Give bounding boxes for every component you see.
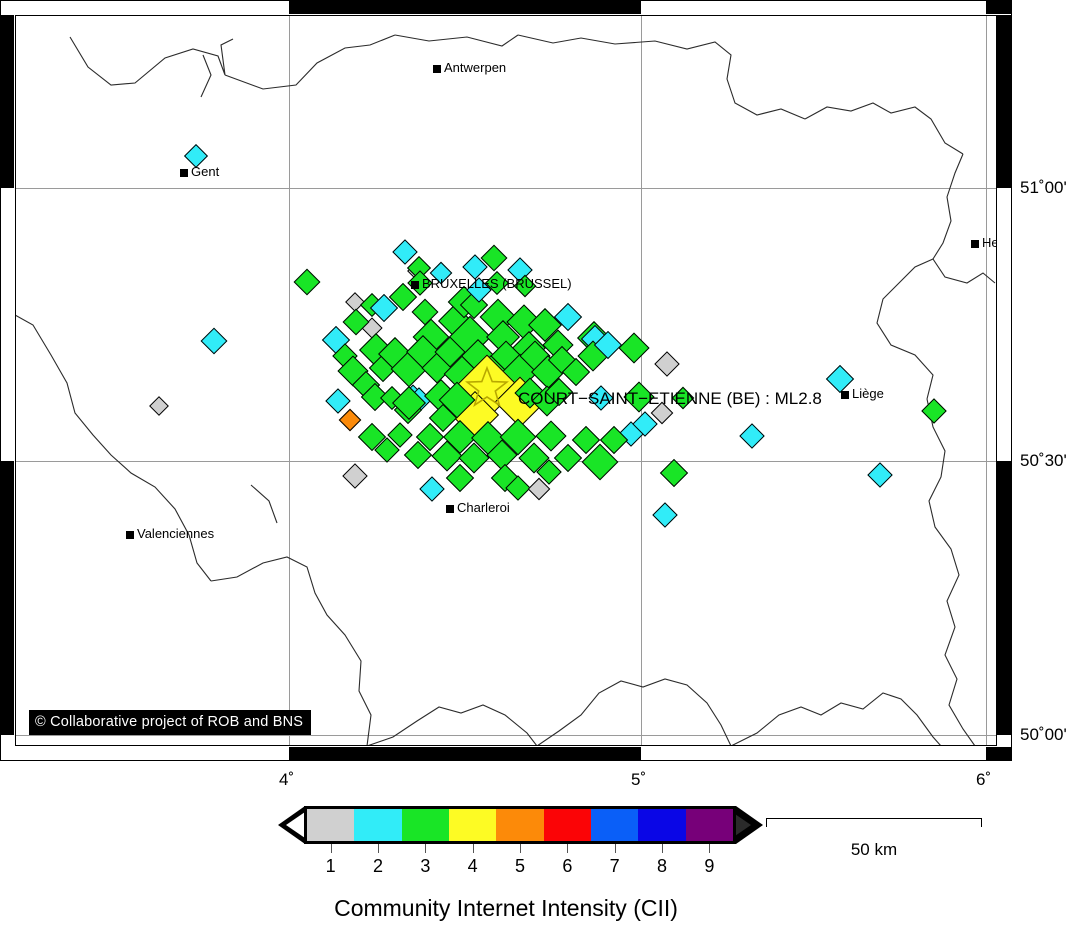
epicenter-star-icon	[465, 365, 509, 409]
colorbar-tick	[615, 844, 616, 853]
city-square-icon	[126, 531, 134, 539]
colorbar-swatch-4[interactable]	[449, 809, 496, 841]
colorbar-tick-label: 6	[562, 856, 572, 877]
colorbar-swatch-7[interactable]	[591, 809, 638, 841]
city-marker: Valenciennes	[126, 527, 214, 540]
colorbar-tick-label: 8	[657, 856, 667, 877]
frame-segment-bottom	[641, 747, 986, 760]
colorbar-tick	[567, 844, 568, 853]
frame-segment-left	[1, 461, 14, 735]
city-square-icon	[180, 169, 188, 177]
colorbar-tick-label: 9	[704, 856, 714, 877]
map-frame: AntwerpenGentHeerBRUXELLES (BRUSSEL)Lièg…	[0, 0, 1012, 761]
frame-segment-left	[1, 188, 14, 461]
frame-segment-bottom	[15, 747, 289, 760]
credit-badge: © Collaborative project of ROB and BNS	[29, 710, 311, 735]
colorbar-tick-label: 7	[610, 856, 620, 877]
event-label: COURT−SAINT−ETIENNE (BE) : ML2.8	[518, 389, 822, 409]
colorbar-tick-label: 5	[515, 856, 525, 877]
frame-segment-bottom	[289, 747, 641, 760]
city-label: Gent	[191, 165, 219, 178]
frame-segment-right	[997, 461, 1011, 735]
colorbar-tick-label: 3	[420, 856, 430, 877]
colorbar-swatch-3[interactable]	[402, 809, 449, 841]
latitude-tick-label: 50˚30'	[1020, 451, 1067, 471]
colorbar-swatch-1[interactable]	[307, 809, 354, 841]
colorbar-tick	[662, 844, 663, 853]
frame-segment-bottom	[986, 747, 1011, 760]
map-canvas[interactable]: AntwerpenGentHeerBRUXELLES (BRUSSEL)Lièg…	[15, 15, 997, 746]
colorbar-tick	[378, 844, 379, 853]
latitude-tick-label: 51˚00'	[1020, 178, 1067, 198]
city-marker: BRUXELLES (BRUSSEL)	[411, 277, 572, 290]
frame-segment-top	[15, 1, 289, 14]
city-marker: Gent	[180, 165, 219, 178]
colorbar-swatch-2[interactable]	[354, 809, 401, 841]
longitude-tick-label: 6˚	[976, 770, 991, 790]
colorbar-swatches[interactable]	[304, 806, 736, 844]
colorbar-swatch-9[interactable]	[686, 809, 733, 841]
frame-segment-top	[289, 1, 641, 14]
city-square-icon	[841, 391, 849, 399]
city-marker: Heer	[971, 236, 997, 249]
city-marker: Antwerpen	[433, 61, 506, 74]
frame-segment-right	[997, 15, 1011, 188]
scale-bar-label: 50 km	[766, 840, 982, 860]
frame-segment-right	[997, 735, 1011, 746]
city-square-icon	[971, 240, 979, 248]
scale-bar-tick-left	[766, 818, 767, 827]
longitude-tick-label: 5˚	[631, 770, 646, 790]
colorbar-swatch-8[interactable]	[638, 809, 685, 841]
city-label: Liège	[852, 387, 884, 400]
city-square-icon	[433, 65, 441, 73]
colorbar-swatch-5[interactable]	[496, 809, 543, 841]
scale-bar-tick-right	[981, 818, 982, 827]
colorbar-tick	[331, 844, 332, 853]
frame-segment-right	[997, 188, 1011, 461]
colorbar-tick-label: 4	[468, 856, 478, 877]
city-marker: Liège	[841, 387, 884, 400]
scale-bar-line	[766, 818, 982, 819]
frame-segment-left	[1, 15, 14, 188]
frame-segment-top	[641, 1, 986, 14]
colorbar-tick	[709, 844, 710, 853]
longitude-tick-label: 4˚	[279, 770, 294, 790]
city-square-icon	[446, 505, 454, 513]
colorbar-tick	[425, 844, 426, 853]
city-label: Valenciennes	[137, 527, 214, 540]
city-label: Antwerpen	[444, 61, 506, 74]
frame-segment-left	[1, 735, 14, 746]
seismic-intensity-map-page: AntwerpenGentHeerBRUXELLES (BRUSSEL)Lièg…	[0, 0, 1088, 932]
city-marker: Charleroi	[446, 501, 510, 514]
city-square-icon	[411, 281, 419, 289]
latitude-tick-label: 50˚00'	[1020, 725, 1067, 745]
cii-axis-title: Community Internet Intensity (CII)	[0, 895, 1012, 922]
city-label: BRUXELLES (BRUSSEL)	[422, 277, 572, 290]
frame-segment-top	[986, 1, 1011, 14]
city-label: Heer	[982, 236, 997, 249]
colorbar-tick-label: 2	[373, 856, 383, 877]
city-label: Charleroi	[457, 501, 510, 514]
colorbar-swatch-6[interactable]	[544, 809, 591, 841]
colorbar-tick	[520, 844, 521, 853]
colorbar-tick	[473, 844, 474, 853]
colorbar-left-arrow-fill	[286, 812, 305, 838]
colorbar-tick-label: 1	[326, 856, 336, 877]
